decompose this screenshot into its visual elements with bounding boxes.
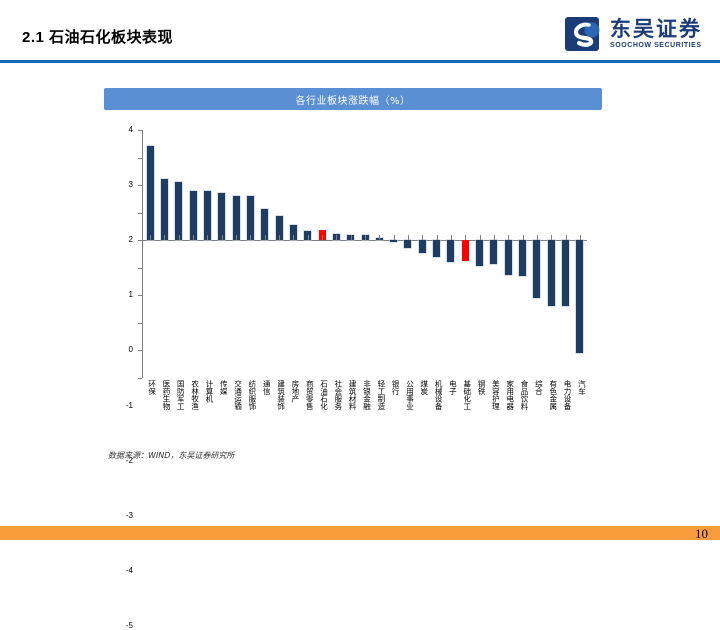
x-tick-label: 建筑装饰 bbox=[274, 380, 285, 410]
bar bbox=[576, 240, 583, 352]
x-tick bbox=[279, 235, 280, 240]
x-tick-label: 轻工制造 bbox=[374, 380, 385, 410]
page-title: 2.1 石油石化板块表现 bbox=[22, 26, 173, 47]
x-tick-label: 商贸零售 bbox=[302, 380, 313, 410]
x-tick-label: 石油石化 bbox=[317, 380, 328, 410]
x-tick bbox=[164, 235, 165, 240]
bar bbox=[462, 240, 469, 261]
y-tick: 1 bbox=[138, 213, 142, 214]
x-tick bbox=[322, 235, 323, 240]
chart-title-band: 各行业板块涨跌幅（%） bbox=[104, 88, 602, 110]
y-tick: -2 bbox=[138, 295, 142, 296]
x-tick bbox=[308, 235, 309, 240]
y-tick-label: 1 bbox=[129, 291, 133, 299]
logo-text: 东吴证券 SOOCHOW SECURITIES bbox=[610, 18, 702, 50]
x-tick bbox=[537, 235, 538, 240]
y-tick-label: 2 bbox=[129, 236, 133, 244]
y-tick-label: -3 bbox=[126, 512, 133, 520]
bar bbox=[490, 240, 497, 264]
x-tick-label: 通信 bbox=[259, 380, 270, 395]
chart-title: 各行业板块涨跌幅（%） bbox=[295, 92, 410, 107]
x-tick bbox=[179, 235, 180, 240]
bar bbox=[175, 182, 182, 240]
bar bbox=[505, 240, 512, 275]
bar bbox=[147, 146, 154, 240]
x-tick bbox=[150, 235, 151, 240]
chart-area: 43210-1-2-3-4-5 环保医药生物国防军工农林牧渔计算机传媒交通运输纺… bbox=[104, 118, 602, 448]
x-tick-label: 钢铁 bbox=[474, 380, 485, 395]
x-tick-label: 公用事业 bbox=[402, 380, 413, 410]
y-tick-label: -5 bbox=[126, 622, 133, 630]
x-tick bbox=[480, 235, 481, 240]
x-tick bbox=[394, 235, 395, 240]
x-tick bbox=[193, 235, 194, 240]
x-tick bbox=[236, 235, 237, 240]
x-tick bbox=[451, 235, 452, 240]
x-tick-label: 美容护理 bbox=[488, 380, 499, 410]
bar bbox=[433, 240, 440, 257]
x-tick-label: 非银金融 bbox=[360, 380, 371, 410]
header-divider bbox=[0, 60, 720, 63]
x-tick-label: 机械设备 bbox=[431, 380, 442, 410]
x-tick bbox=[551, 235, 552, 240]
soochow-swirl-logo-icon bbox=[564, 14, 604, 54]
x-tick bbox=[207, 235, 208, 240]
x-tick bbox=[580, 235, 581, 240]
x-tick bbox=[566, 235, 567, 240]
bar-series bbox=[143, 130, 587, 378]
x-tick bbox=[523, 235, 524, 240]
x-tick-label: 环保 bbox=[145, 380, 156, 395]
y-tick-label: -1 bbox=[126, 402, 133, 410]
x-tick bbox=[293, 235, 294, 240]
y-tick-label: 0 bbox=[129, 346, 133, 354]
y-tick: 3 bbox=[138, 158, 142, 159]
bar bbox=[204, 191, 211, 240]
y-tick: 2 bbox=[138, 185, 142, 186]
y-tick: 4 bbox=[138, 130, 142, 131]
x-tick-label: 综合 bbox=[531, 380, 542, 395]
x-tick bbox=[422, 235, 423, 240]
x-tick bbox=[379, 235, 380, 240]
slide: 2.1 石油石化板块表现 东吴证券 SOOCHOW SECURITIES 各行业… bbox=[0, 0, 720, 540]
plot-region: 43210-1-2-3-4-5 bbox=[142, 130, 587, 378]
bar bbox=[390, 240, 397, 241]
x-tick bbox=[365, 235, 366, 240]
x-tick bbox=[494, 235, 495, 240]
company-logo: 东吴证券 SOOCHOW SECURITIES bbox=[564, 14, 702, 54]
y-tick: -1 bbox=[138, 268, 142, 269]
x-tick-label: 家用电器 bbox=[503, 380, 514, 410]
x-tick bbox=[408, 235, 409, 240]
x-tick-label: 电子 bbox=[445, 380, 456, 395]
x-tick-label: 银行 bbox=[388, 380, 399, 395]
y-tick-label: 4 bbox=[129, 126, 133, 134]
x-tick-label: 汽车 bbox=[574, 380, 585, 395]
x-tick bbox=[250, 235, 251, 240]
bar bbox=[190, 191, 197, 241]
y-tick: -4 bbox=[138, 350, 142, 351]
bar bbox=[419, 240, 426, 253]
bar bbox=[247, 196, 254, 240]
x-tick bbox=[336, 235, 337, 240]
x-tick bbox=[437, 235, 438, 240]
x-tick-label: 社会服务 bbox=[331, 380, 342, 410]
x-tick-label: 有色金属 bbox=[546, 380, 557, 410]
bar bbox=[447, 240, 454, 261]
x-tick-label: 国防军工 bbox=[173, 380, 184, 410]
x-tick-label: 电力设备 bbox=[560, 380, 571, 410]
x-tick-label: 医药生物 bbox=[159, 380, 170, 410]
bar bbox=[476, 240, 483, 265]
x-tick bbox=[465, 235, 466, 240]
x-tick-label: 基础化工 bbox=[460, 380, 471, 410]
x-tick bbox=[508, 235, 509, 240]
x-tick-label: 房地产 bbox=[288, 380, 299, 403]
x-tick-label: 纺织服饰 bbox=[245, 380, 256, 410]
x-tick-label: 建筑材料 bbox=[345, 380, 356, 410]
logo-name-en: SOOCHOW SECURITIES bbox=[610, 41, 702, 50]
x-tick-label: 交通运输 bbox=[231, 380, 242, 410]
y-tick: 0 bbox=[138, 240, 142, 241]
x-tick-label: 食品饮料 bbox=[517, 380, 528, 410]
bar bbox=[548, 240, 555, 306]
x-tick-label: 传媒 bbox=[216, 380, 227, 395]
source-note: 数据来源：WIND，东吴证券研究所 bbox=[108, 450, 234, 461]
x-tick bbox=[351, 235, 352, 240]
x-tick-label: 煤炭 bbox=[417, 380, 428, 395]
y-tick: -5 bbox=[138, 378, 142, 379]
bar bbox=[233, 196, 240, 241]
bar bbox=[404, 240, 411, 248]
x-axis-labels: 环保医药生物国防军工农林牧渔计算机传媒交通运输纺织服饰通信建筑装饰房地产商贸零售… bbox=[143, 380, 588, 460]
x-tick bbox=[265, 235, 266, 240]
x-tick bbox=[222, 235, 223, 240]
y-tick-label: -4 bbox=[126, 567, 133, 575]
x-tick-label: 计算机 bbox=[202, 380, 213, 403]
y-tick: -3 bbox=[138, 323, 142, 324]
bar bbox=[519, 240, 526, 276]
y-tick-label: 3 bbox=[129, 181, 133, 189]
bar bbox=[161, 179, 168, 240]
footer-bar: 10 bbox=[0, 526, 720, 540]
logo-name-cn: 东吴证券 bbox=[610, 18, 702, 40]
bar bbox=[533, 240, 540, 297]
bar bbox=[562, 240, 569, 306]
x-tick-label: 农林牧渔 bbox=[188, 380, 199, 410]
bar bbox=[218, 193, 225, 240]
